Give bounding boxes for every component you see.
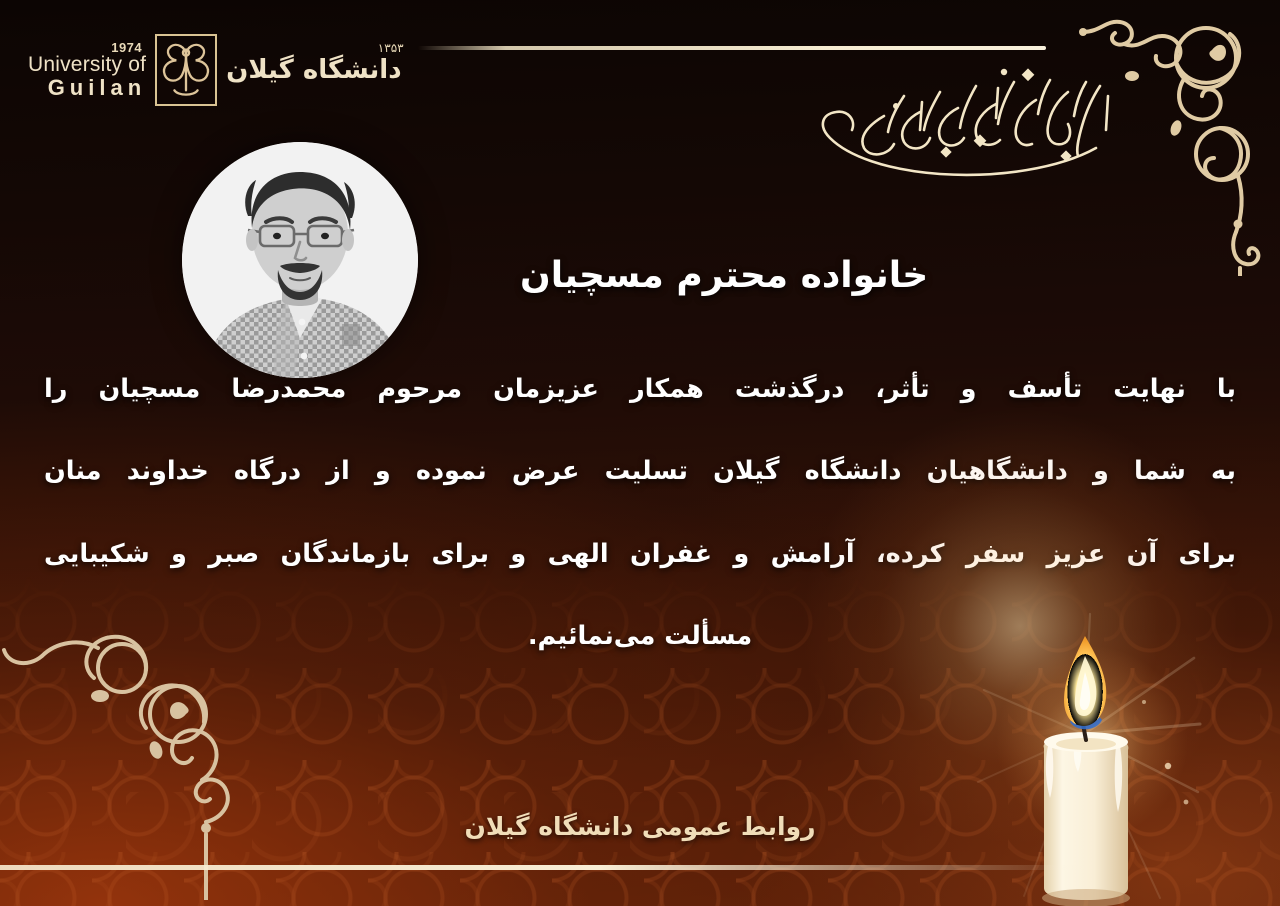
university-logo: 1974 University of Guilan ۱۳۵۳ دانشگاه گ… bbox=[28, 34, 402, 106]
page-title: خانواده محترم مسچیان bbox=[520, 255, 1160, 296]
footer-gold-line-icon bbox=[0, 865, 1090, 870]
condolence-poster: 1974 University of Guilan ۱۳۵۳ دانشگاه گ… bbox=[0, 0, 1280, 906]
public-relations-credit: روابط عمومی دانشگاه گیلان bbox=[0, 812, 1280, 841]
logo-founding-year-fa: ۱۳۵۳ bbox=[378, 41, 404, 55]
logo-founding-year-en: 1974 bbox=[28, 41, 142, 55]
logo-line-guilan: Guilan bbox=[28, 76, 146, 99]
quranic-calligraphy bbox=[800, 52, 1130, 182]
message-line-3: برای آن عزیز سفر کرده، آرامش و غفران اله… bbox=[44, 537, 1236, 571]
logo-english-text: 1974 University of Guilan bbox=[28, 41, 146, 100]
message-line-1: با نهایت تأسف و تأثر، درگذشت همکار عزیزم… bbox=[44, 372, 1236, 406]
logo-name-persian: دانشگاه گیلان bbox=[226, 55, 401, 95]
logo-line-university-of: University of bbox=[28, 54, 146, 76]
deceased-portrait-photo bbox=[182, 142, 418, 378]
gold-divider-line-icon bbox=[418, 46, 1046, 50]
lit-candle-icon bbox=[972, 606, 1202, 906]
message-line-2: به شما و دانشگاهیان دانشگاه گیلان تسلیت … bbox=[44, 454, 1236, 488]
guilan-butterfly-emblem-icon bbox=[155, 34, 217, 106]
